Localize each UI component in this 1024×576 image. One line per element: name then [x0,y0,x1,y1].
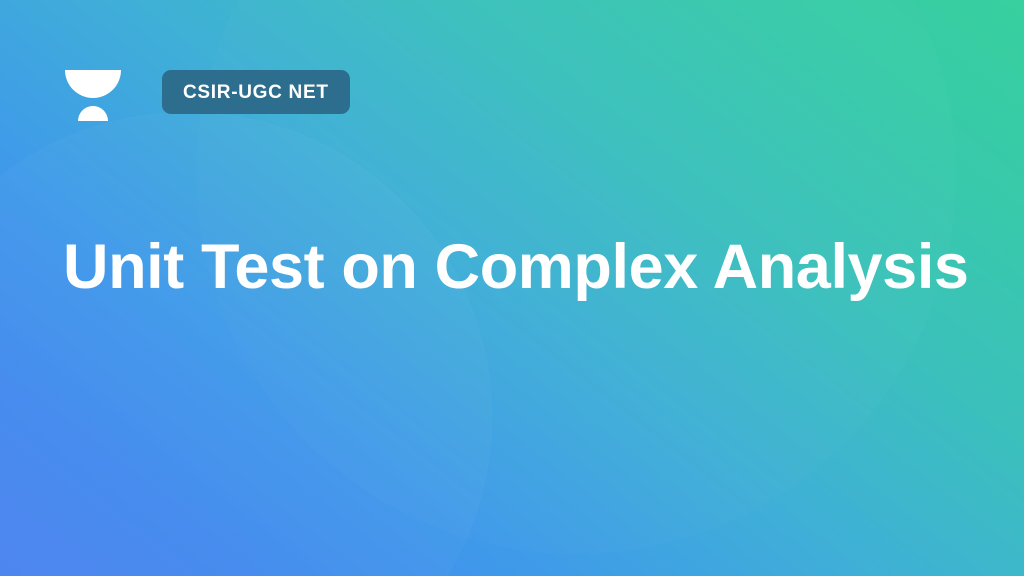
title-slide: CSIR-UGC NET Unit Test on Complex Analys… [0,0,1024,576]
exam-badge: CSIR-UGC NET [162,70,350,114]
decorative-circle [0,112,492,576]
title-block: Unit Test on Complex Analysis [63,232,964,303]
slide-header: CSIR-UGC NET [63,62,350,122]
page-title: Unit Test on Complex Analysis [63,232,964,303]
exam-badge-label: CSIR-UGC NET [183,83,329,102]
chalice-bowl-icon [63,62,123,122]
